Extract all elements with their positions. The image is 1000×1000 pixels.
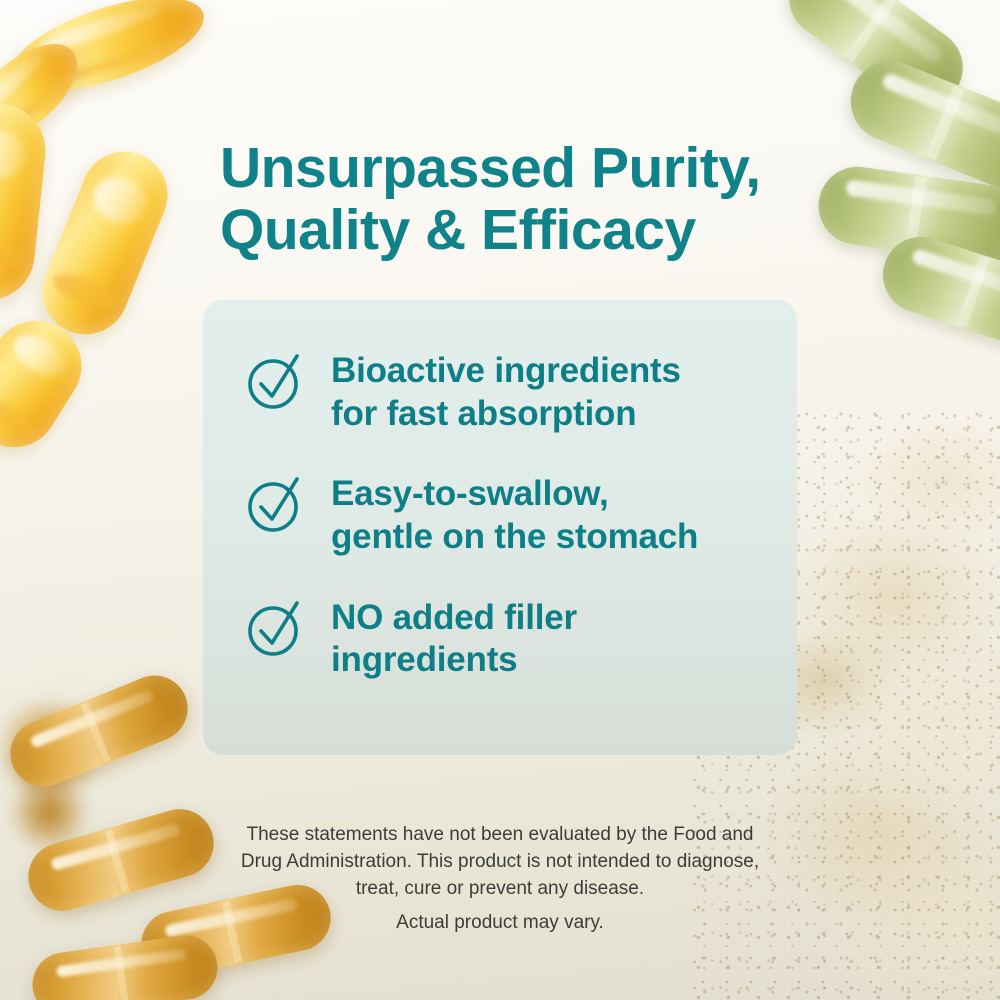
headline-line-2: Quality & Efficacy xyxy=(220,200,840,262)
benefit-line-1: Bioactive ingredients xyxy=(331,350,681,393)
benefits-list: Bioactive ingredients for fast absorptio… xyxy=(203,300,797,682)
turmeric-capsule xyxy=(20,801,221,919)
benefit-line-1: Easy-to-swallow, xyxy=(331,473,698,516)
benefit-text: NO added filler ingredients xyxy=(331,595,577,682)
green-capsule xyxy=(873,227,1000,361)
softgel-capsule xyxy=(0,26,94,160)
benefits-panel: Bioactive ingredients for fast absorptio… xyxy=(203,300,797,755)
softgel-capsule xyxy=(30,139,181,347)
product-benefits-graphic: Unsurpassed Purity, Quality & Efficacy B… xyxy=(0,0,1000,1000)
green-capsule xyxy=(814,162,1000,268)
benefit-item: Bioactive ingredients for fast absorptio… xyxy=(203,348,797,435)
turmeric-powder-spill xyxy=(0,700,110,796)
softgel-capsule xyxy=(0,100,50,305)
softgel-capsule xyxy=(0,304,98,464)
benefit-line-2: for fast absorption xyxy=(331,393,681,436)
green-capsule xyxy=(774,0,978,122)
turmeric-capsule xyxy=(0,666,197,797)
turmeric-capsule xyxy=(28,931,221,1000)
benefit-line-2: gentle on the stomach xyxy=(331,516,698,559)
benefit-item: NO added filler ingredients xyxy=(203,595,797,682)
page-title: Unsurpassed Purity, Quality & Efficacy xyxy=(220,138,840,261)
check-circle-icon xyxy=(245,597,307,659)
green-capsule xyxy=(839,49,1000,203)
turmeric-powder-spill xyxy=(4,778,94,848)
product-variance-note: Actual product may vary. xyxy=(200,912,800,934)
headline-line-1: Unsurpassed Purity, xyxy=(220,138,840,200)
benefit-text: Bioactive ingredients for fast absorptio… xyxy=(331,348,681,435)
benefit-text: Easy-to-swallow, gentle on the stomach xyxy=(331,471,698,558)
disclaimer-line-3: treat, cure or prevent any disease. xyxy=(200,876,800,903)
benefit-line-2: ingredients xyxy=(331,639,577,682)
check-circle-icon xyxy=(245,473,307,535)
softgel-capsule xyxy=(2,0,214,109)
benefit-item: Easy-to-swallow, gentle on the stomach xyxy=(203,471,797,558)
disclaimer-line-1: These statements have not been evaluated… xyxy=(200,822,800,849)
disclaimer-line-2: Drug Administration. This product is not… xyxy=(200,849,800,876)
fda-disclaimer: These statements have not been evaluated… xyxy=(200,822,800,903)
benefit-line-1: NO added filler xyxy=(331,597,577,640)
check-circle-icon xyxy=(245,350,307,412)
